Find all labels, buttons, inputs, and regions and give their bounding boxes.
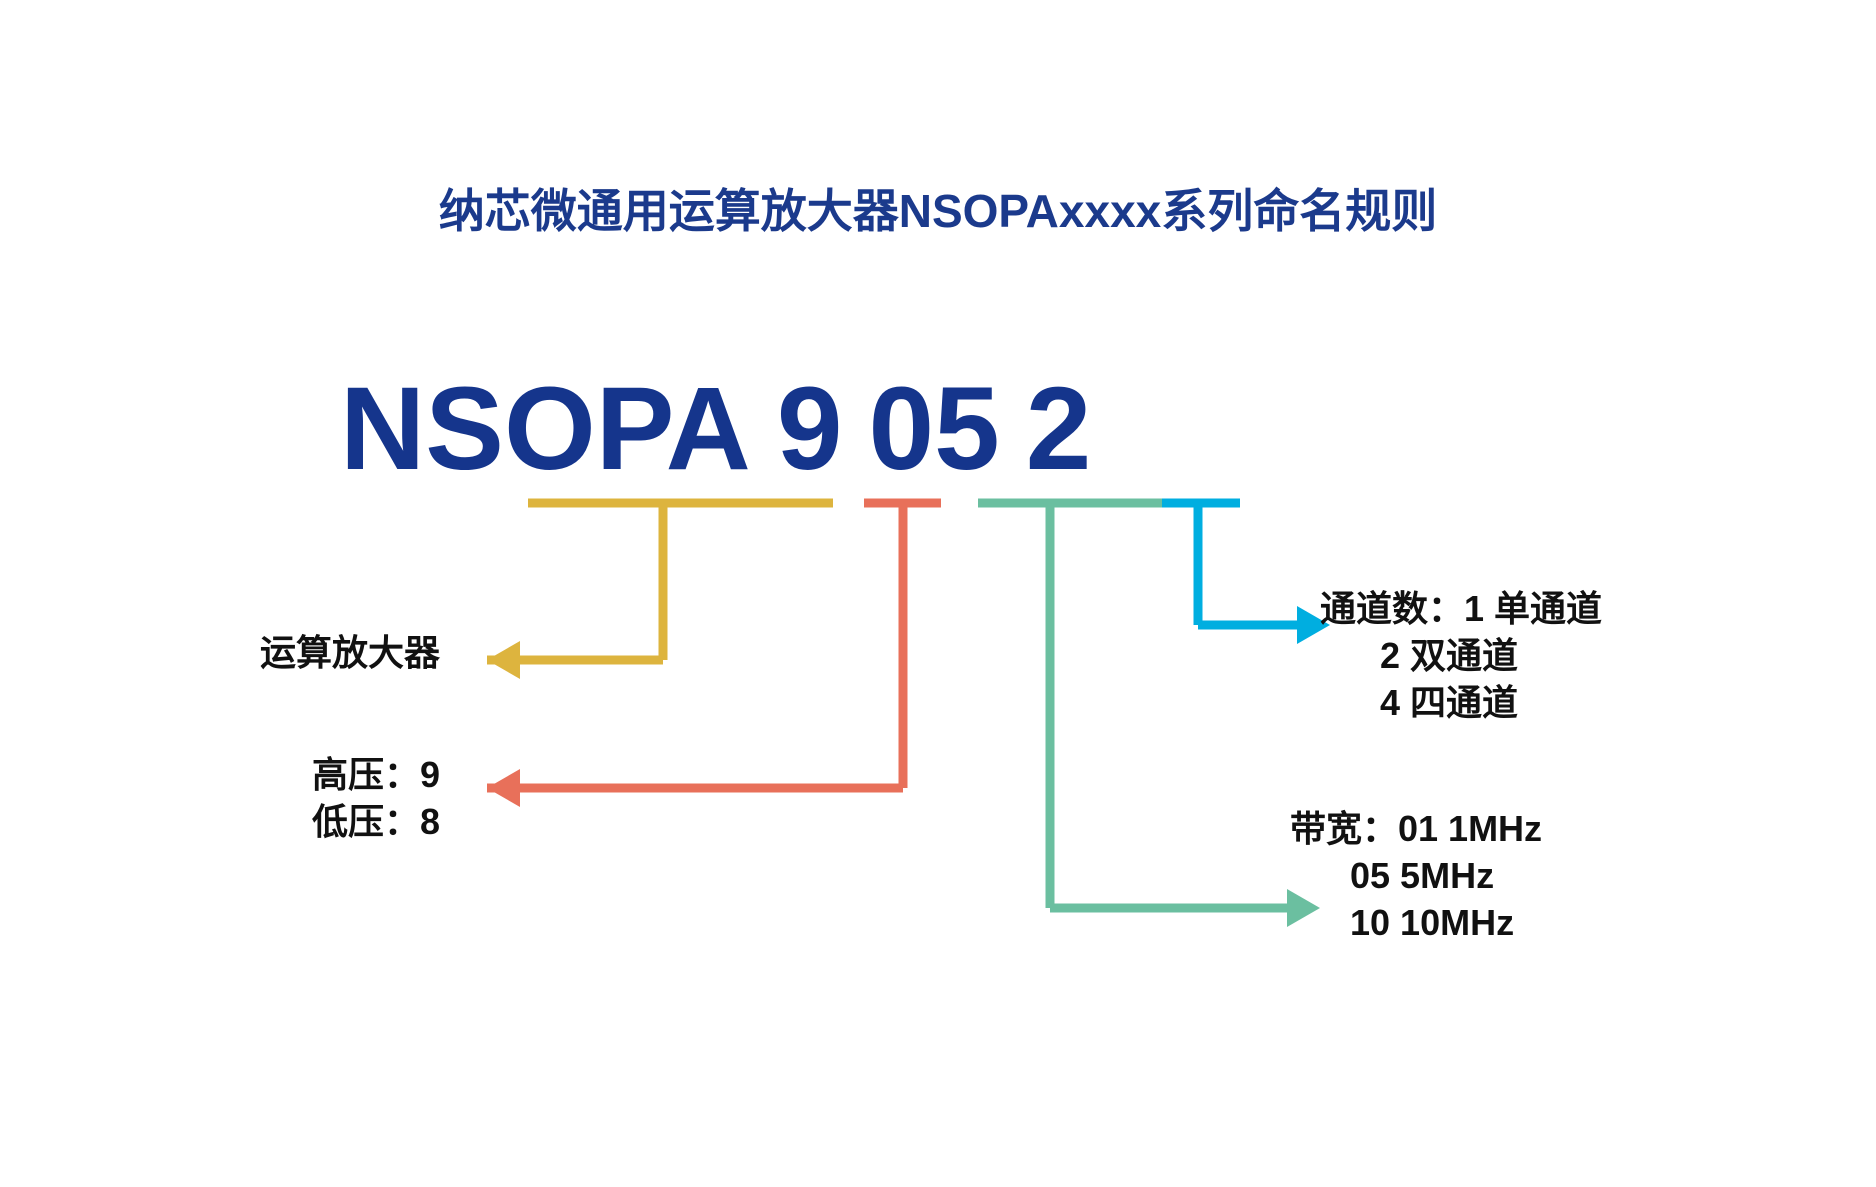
page-title: 纳芯微通用运算放大器NSOPAxxxx系列命名规则 bbox=[0, 188, 1876, 234]
connector-bandwidth-teal bbox=[978, 503, 1320, 927]
part-segment-opa: OPA bbox=[504, 370, 751, 488]
connector-channels-cyan bbox=[1162, 503, 1330, 644]
part-number-display: N S OPA 9 05 2 bbox=[340, 370, 1091, 480]
part-segment-bandwidth: 05 bbox=[869, 370, 1000, 488]
callout-label-voltage: 高压：9 低压：8 bbox=[90, 752, 440, 846]
part-prefix-n: N bbox=[340, 370, 425, 488]
callout-label-channels: 通道数：1 单通道 2 双通道 4 四通道 bbox=[1320, 586, 1800, 726]
diagram-canvas: 纳芯微通用运算放大器NSOPAxxxx系列命名规则 N S OPA 9 05 2 bbox=[0, 0, 1876, 1187]
callout-label-bandwidth: 带宽：01 1MHz 05 5MHz 10 10MHz bbox=[1290, 806, 1800, 946]
connector-opamp-gold bbox=[487, 503, 833, 679]
connector-voltage-coral bbox=[487, 503, 941, 807]
part-prefix-s: S bbox=[425, 370, 504, 488]
part-segment-voltage: 9 bbox=[777, 370, 843, 488]
callout-label-opamp: 运算放大器 bbox=[90, 630, 440, 677]
part-segment-channels: 2 bbox=[1026, 370, 1092, 488]
